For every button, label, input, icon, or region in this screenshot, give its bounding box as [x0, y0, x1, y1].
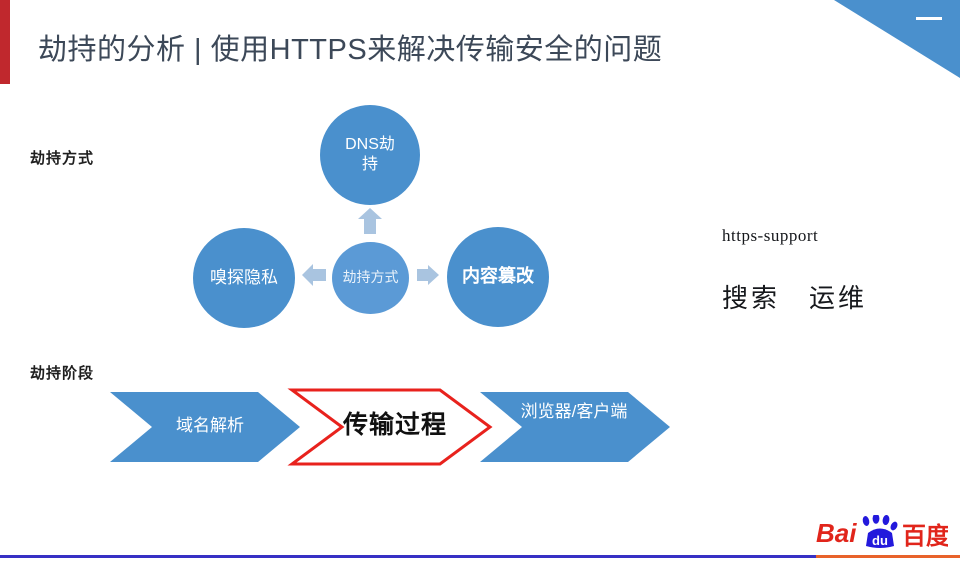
process-step-1-label: 域名解析: [150, 415, 270, 436]
baidu-logo-latin: Bai: [816, 518, 857, 548]
section-label-mode: 劫持方式: [30, 147, 94, 168]
process-step-2-label: 传输过程: [315, 410, 475, 441]
process-step-3-label: 浏览器/客户端: [513, 401, 635, 422]
corner-triangle-icon: [826, 0, 960, 78]
left-red-accent-bar: [0, 0, 10, 84]
diagram-circle-sniff[interactable]: 嗅探隐私: [193, 228, 295, 328]
baidu-logo-hanzi: 百度: [902, 522, 948, 549]
diagram-circle-dns[interactable]: DNS劫持: [320, 105, 420, 205]
diagram-circle-tamper[interactable]: 内容篡改: [447, 227, 549, 327]
corner-dash-icon: [916, 17, 942, 20]
page-title: 劫持的分析 | 使用HTTPS来解决传输安全的问题: [38, 26, 662, 68]
process-chevron-bar: [0, 386, 960, 468]
footer-rule-orange: [816, 555, 960, 558]
baidu-logo-paw-text: du: [872, 533, 888, 548]
arrow-up-icon: [358, 208, 382, 234]
https-support-text: https-support: [722, 226, 818, 246]
arrow-left-icon: [302, 264, 326, 286]
diagram-circle-center[interactable]: 劫持方式: [332, 242, 409, 314]
baidu-logo[interactable]: Bai du 百度: [816, 515, 948, 549]
footer-rule-blue: [0, 555, 816, 558]
roles-text: 搜索 运维: [722, 278, 867, 315]
arrow-right-icon: [417, 265, 439, 285]
section-label-stage: 劫持阶段: [30, 362, 94, 383]
footer-rule: [0, 555, 960, 558]
